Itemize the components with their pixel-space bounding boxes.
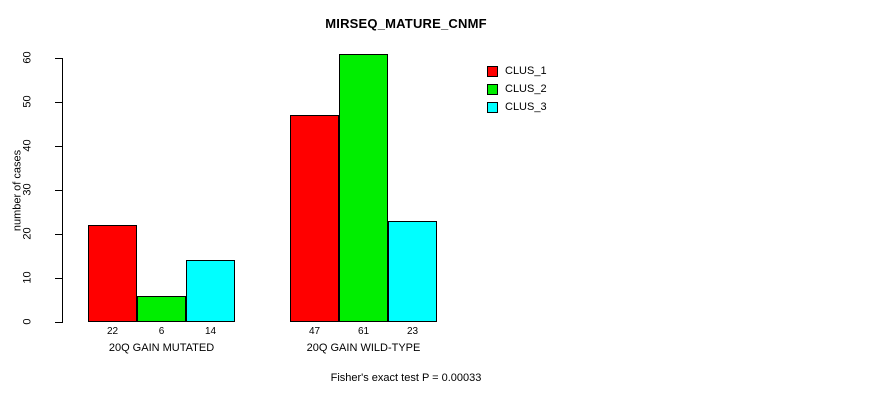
y-axis-tick-label: 20	[23, 214, 34, 254]
y-axis-tick	[55, 146, 62, 147]
legend-item-clus_2: CLUS_2	[487, 80, 547, 98]
y-axis-tick-label: 60	[23, 38, 34, 78]
bar-clus_2-group-1	[137, 296, 186, 322]
bar-clus_2-group-2	[339, 54, 388, 322]
bar-clus_1-group-1	[88, 225, 137, 322]
bar-value-label: 23	[388, 327, 437, 337]
y-axis-title: number of cases	[13, 131, 24, 251]
y-axis-tick	[55, 234, 62, 235]
legend-item-clus_3: CLUS_3	[487, 98, 547, 116]
legend-item-label: CLUS_1	[505, 66, 547, 77]
legend: CLUS_1CLUS_2CLUS_3	[487, 62, 547, 116]
y-axis-tick	[55, 190, 62, 191]
x-axis-group-label: 20Q GAIN WILD-TYPE	[230, 343, 497, 354]
legend-item-label: CLUS_2	[505, 84, 547, 95]
bar-value-label: 22	[88, 327, 137, 337]
y-axis-line	[62, 58, 63, 323]
footnote-annotation: Fisher's exact test P = 0.00033	[0, 372, 851, 384]
y-axis-tick	[55, 278, 62, 279]
legend-color-swatch	[487, 66, 498, 77]
y-axis-tick-label: 30	[23, 170, 34, 210]
y-axis-tick-label: 40	[23, 126, 34, 166]
y-axis-tick	[55, 102, 62, 103]
bar-clus_3-group-1	[186, 260, 235, 322]
y-axis-tick	[55, 322, 62, 323]
bar-clus_1-group-2	[290, 115, 339, 322]
page-title: MIRSEQ_MATURE_CNMF	[0, 16, 851, 31]
y-axis-tick-label: 10	[23, 258, 34, 298]
y-axis-tick-label: 50	[23, 82, 34, 122]
legend-item-clus_1: CLUS_1	[487, 62, 547, 80]
bar-value-label: 47	[290, 327, 339, 337]
bar-value-label: 6	[137, 327, 186, 337]
chart-canvas: MIRSEQ_MATURE_CNMF 0102030405060 number …	[0, 0, 890, 400]
bar-value-label: 14	[186, 327, 235, 337]
legend-color-swatch	[487, 102, 498, 113]
legend-item-label: CLUS_3	[505, 102, 547, 113]
bar-value-label: 61	[339, 327, 388, 337]
legend-color-swatch	[487, 84, 498, 95]
y-axis-tick-label: 0	[23, 302, 34, 342]
y-axis-tick	[55, 58, 62, 59]
bar-clus_3-group-2	[388, 221, 437, 322]
